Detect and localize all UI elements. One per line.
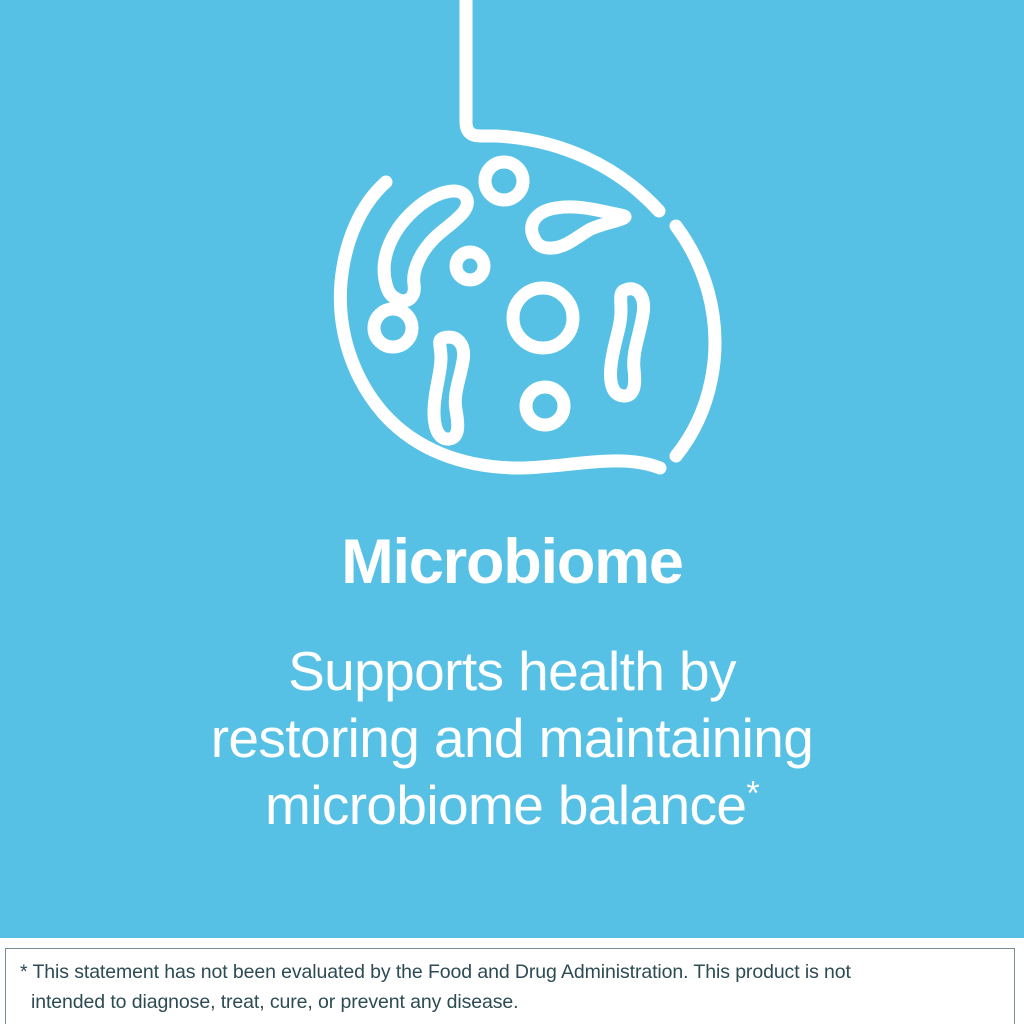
petri-dish-microbes-icon bbox=[0, 0, 1024, 500]
benefit-line-1: Supports health by bbox=[0, 638, 1024, 705]
benefit-description: Supports health by restoring and maintai… bbox=[0, 638, 1024, 839]
microbiome-benefit-card: Microbiome Supports health by restoring … bbox=[0, 0, 1024, 1024]
microbe-ring-large-center bbox=[513, 288, 573, 348]
microbe-rod-upper-right bbox=[532, 207, 625, 248]
disclaimer-line-2: intended to diagnose, treat, cure, or pr… bbox=[20, 987, 980, 1017]
microbe-rod-right bbox=[611, 289, 644, 396]
microbe-ring-small-center bbox=[456, 252, 484, 280]
benefit-line-3-text: microbiome balance bbox=[265, 774, 746, 836]
disclaimer-box: * This statement has not been evaluated … bbox=[5, 948, 1015, 1024]
disclaimer-text: * This statement has not been evaluated … bbox=[20, 957, 980, 1017]
disclaimer-line-1: This statement has not been evaluated by… bbox=[28, 961, 851, 983]
benefit-line-3: microbiome balance* bbox=[0, 772, 1024, 839]
microbe-ring-bottom bbox=[526, 387, 564, 425]
microbe-ring-upper bbox=[485, 162, 523, 200]
microbe-ring-left bbox=[374, 309, 412, 347]
microbe-rod-bottom-left bbox=[434, 337, 464, 439]
dish-arc-right bbox=[676, 226, 715, 456]
hero-panel: Microbiome Supports health by restoring … bbox=[0, 0, 1024, 938]
footnote-marker: * bbox=[746, 775, 759, 813]
disclaimer-marker: * bbox=[20, 961, 28, 983]
page-title: Microbiome bbox=[0, 528, 1024, 596]
benefit-line-2: restoring and maintaining bbox=[0, 705, 1024, 772]
dropper-stem bbox=[466, 0, 496, 136]
microbe-rod-upper-left bbox=[384, 191, 467, 301]
dish-arc-left bbox=[340, 182, 386, 413]
dish-arc-bottom bbox=[383, 413, 660, 468]
